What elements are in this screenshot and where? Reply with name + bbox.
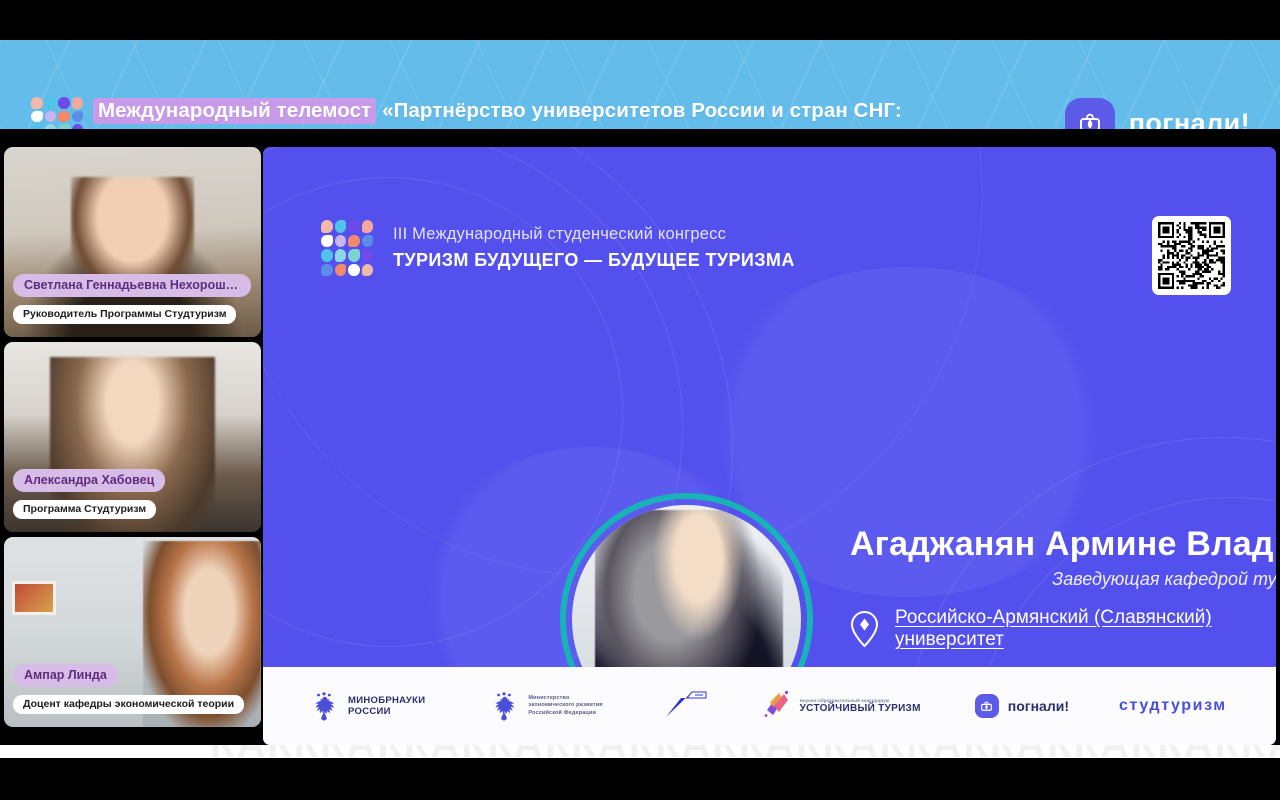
pognali-footer-logo: погнали! [975,694,1069,718]
participant-tile[interactable]: Светлана Геннадьевна Нехороше… Руководит… [4,147,261,337]
pognali-bag-icon [1065,98,1115,129]
minobrnauki-text: МИНОБРНАУКИ РОССИИ [348,695,425,717]
congress-header: III Международный студенческий конгресс … [321,220,795,276]
logo-tile [321,235,333,248]
ustoychivy-turizm-logo: Научно-образовательный консорциум УСТОЙЧ… [761,688,921,725]
russian-eagle-emblem-icon [489,689,519,723]
ustoychivy-turizm-mark-icon [761,688,791,725]
logo-tile [321,264,333,277]
logo-tile [348,249,360,262]
minekonom-logo: Министерство экономического развития Рос… [489,689,602,723]
participant-name: Светлана Геннадьевна Нехороше… [13,274,251,297]
logo-tile [335,249,347,262]
ustoychivy-turizm-text: Научно-образовательный консорциум УСТОЙЧ… [800,698,921,714]
bottom-watermark-strip: КАКККАККАККАККАККАККАККАККАККАККАККАККАК… [0,745,1280,758]
speaker-role: Заведующая кафедрой туризма и сферы услу… [850,569,1276,590]
pognali-footer-label: погнали! [1008,698,1069,714]
participant-role: Доцент кафедры экономической теории [13,695,244,714]
participant-name: Ампар Линда [13,664,118,687]
event-title: Международный телемост «Партнёрство унив… [93,97,1033,129]
qr-code-icon[interactable] [1152,216,1231,295]
minekonom-text: Министерство экономического развития Рос… [528,695,602,717]
event-title-line2: студенческий туризм как пространство сот… [93,127,680,129]
logo-tile [45,124,57,129]
participant-badges: Александра Хабовец Программа Студтуризм [13,469,165,524]
russian-eagle-emblem-icon [309,689,339,723]
event-title-rest: «Партнёрство университетов России и стра… [376,99,902,122]
participant-tile[interactable]: Александра Хабовец Программа Студтуризм [4,342,261,532]
logo-tile [335,235,347,248]
studturizm-wordmark-icon: студтуризм [1119,697,1227,715]
pognali-bag-icon [975,694,999,718]
screen: Международный телемост «Партнёрство унив… [0,0,1280,800]
location-pin-icon [848,610,881,648]
logo-tile [348,264,360,277]
event-title-highlight: Международный телемост [93,98,376,124]
logo-tile [348,220,360,233]
logo-tile [72,124,84,129]
speaker-name: Агаджанян Армине Владимировна [850,525,1250,564]
participant-video-list: Светлана Геннадьевна Нехороше… Руководит… [4,147,261,732]
logo-tile [58,124,70,129]
presentation-slide[interactable]: III Международный студенческий конгресс … [263,147,1276,745]
watermark-text: КАКККАККАККАККАККАККАККАККАККАККАККАККАК… [210,745,1280,758]
university-name[interactable]: Российско-Армянский (Славянский) универс… [895,607,1276,651]
participant-role: Программа Студтуризм [13,500,156,519]
sponsor-logo-strip: МИНОБРНАУКИ РОССИИ Ми [263,667,1276,745]
logo-tile [362,220,374,233]
logo-tile [362,264,374,277]
participant-badges: Ампар Линда Доцент кафедры экономической… [13,664,244,719]
logo-tile [58,111,70,123]
logo-tile [321,220,333,233]
pognali-brand-badge[interactable]: погнали! [1065,98,1250,129]
logo-tile [31,124,43,129]
logo-tile [31,97,43,109]
logo-tile [362,249,374,262]
letterbox-top [0,0,1280,40]
logo-tile [348,235,360,248]
logo-tile [72,97,84,109]
logo-tile [335,264,347,277]
logo-tile [45,111,57,123]
blue-flag-logo [661,687,709,726]
logo-tile [72,111,84,123]
studturizm-logo: студтуризм [1119,697,1227,715]
logo-tile [335,220,347,233]
participant-tile[interactable]: Ампар Линда Доцент кафедры экономической… [4,537,261,727]
pognali-label: погнали! [1129,108,1250,130]
logo-tile [31,111,43,123]
participant-name: Александра Хабовец [13,469,165,492]
event-header-banner: Международный телемост «Партнёрство унив… [0,40,1280,129]
participant-badges: Светлана Геннадьевна Нехороше… Руководит… [13,274,251,329]
university-row: Российско-Армянский (Славянский) универс… [848,607,1276,651]
letterbox-bottom [0,758,1280,800]
logo-tile [362,235,374,248]
minobrnauki-logo: МИНОБРНАУКИ РОССИИ [309,689,425,723]
logo-tile [45,97,57,109]
participant-role: Руководитель Программы Студтуризм [13,305,236,324]
congress-subtitle: III Международный студенческий конгресс [393,225,795,244]
congress-mosaic-logo-icon [31,97,83,129]
blue-flag-icon [661,687,709,726]
wall-picture [12,581,56,615]
congress-mosaic-logo-icon [321,220,373,276]
logo-tile [321,249,333,262]
logo-tile [58,97,70,109]
congress-title: ТУРИЗМ БУДУЩЕГО — БУДУЩЕЕ ТУРИЗМА [393,250,795,271]
